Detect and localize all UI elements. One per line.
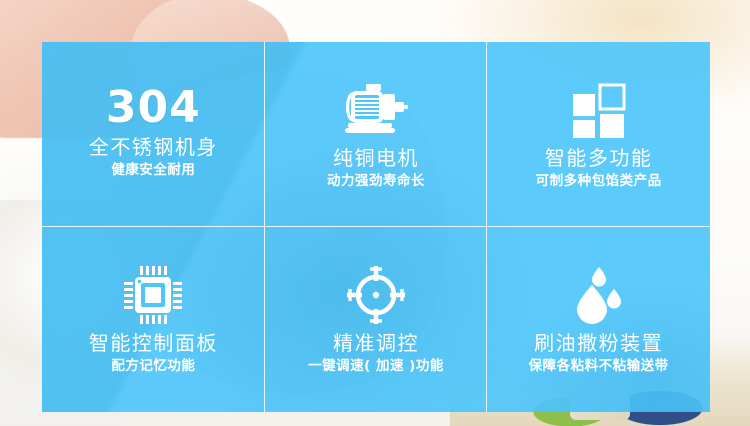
feature-card-smart-multifunction[interactable]: 智能多功能 可制多种包馅类产品	[487, 42, 710, 227]
feature-card-smart-control-panel[interactable]: 智能控制面板 配方记忆功能	[42, 227, 265, 412]
number-304: 304	[106, 86, 201, 130]
feature-subtitle: 一键调速( 加速 )功能	[308, 358, 444, 374]
feature-title: 全不锈钢机身	[89, 136, 218, 159]
feature-title: 智能多功能	[545, 147, 653, 170]
feature-card-stainless-steel-body[interactable]: 304 全不锈钢机身 健康安全耐用	[42, 42, 265, 227]
feature-title: 纯铜电机	[333, 147, 419, 170]
feature-card-oil-brush-flour-duster[interactable]: 刷油撒粉装置 保障各粘料不粘输送带	[487, 227, 710, 412]
feature-card-precise-regulation[interactable]: 精准调控 一键调速( 加速 )功能	[265, 227, 488, 412]
water-droplets-icon	[568, 260, 630, 330]
feature-title: 刷油撒粉装置	[534, 332, 663, 355]
feature-grid: 304 全不锈钢机身 健康安全耐用	[42, 42, 710, 412]
feature-title: 精准调控	[333, 332, 419, 355]
electric-motor-icon	[343, 75, 409, 145]
feature-subtitle: 健康安全耐用	[111, 162, 195, 178]
microchip-icon	[122, 260, 184, 330]
feature-subtitle: 保障各粘料不粘输送带	[529, 358, 669, 374]
crosshair-target-icon	[345, 260, 407, 330]
grid-squares-icon	[571, 75, 627, 145]
feature-subtitle: 可制多种包馅类产品	[536, 173, 662, 189]
feature-card-copper-motor[interactable]: 纯铜电机 动力强劲寿命长	[265, 42, 488, 227]
feature-title: 智能控制面板	[89, 332, 218, 355]
feature-subtitle: 动力强劲寿命长	[327, 173, 425, 189]
feature-subtitle: 配方记忆功能	[111, 358, 195, 374]
